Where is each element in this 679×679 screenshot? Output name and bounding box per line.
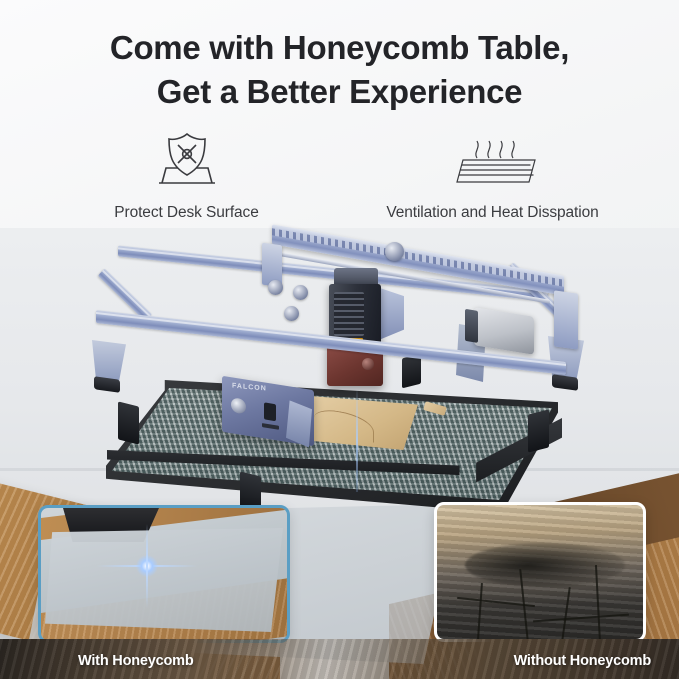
rubber-foot-left — [94, 376, 120, 393]
connector-port[interactable] — [264, 402, 276, 421]
sd-card-slot[interactable] — [262, 423, 279, 430]
focus-knob — [362, 358, 374, 370]
stepper-motor-cap — [465, 309, 478, 343]
heat-grid-icon — [441, 128, 545, 190]
burn-crack — [561, 587, 570, 641]
burn-crack — [477, 583, 483, 639]
comparison-panel-with-honeycomb — [38, 505, 290, 643]
control-box-bracket — [286, 400, 312, 448]
gantry-end-block-right — [554, 290, 578, 349]
laser-engraver-machine: FALCON — [0, 228, 679, 488]
laser-head-module — [326, 268, 388, 388]
feature-label: Protect Desk Surface — [114, 204, 258, 222]
page-title: Come with Honeycomb Table, Get a Better … — [0, 26, 679, 113]
feature-ventilation-heat-dissipation: Ventilation and Heat Disspation — [359, 128, 627, 222]
caption-with-honeycomb: With Honeycomb — [78, 653, 194, 669]
burn-scorch-mark — [465, 543, 625, 587]
idler-pulley — [284, 306, 299, 321]
idler-pulley — [293, 285, 308, 300]
laser-flare-core — [136, 555, 158, 577]
control-box: FALCON — [222, 376, 314, 447]
shield-desk-icon — [148, 128, 226, 190]
feature-protect-desk-surface: Protect Desk Surface — [53, 128, 321, 222]
protected-desk-surface — [45, 528, 283, 632]
power-dial[interactable] — [231, 397, 246, 414]
rubber-foot-right — [552, 374, 578, 391]
headline-line-2: Get a Better Experience — [0, 70, 679, 114]
promo-page: Come with Honeycomb Table, Get a Better … — [0, 0, 679, 679]
headline-line-1: Come with Honeycomb Table, — [0, 26, 679, 70]
caption-without-honeycomb: Without Honeycomb — [514, 653, 651, 669]
laser-heatsink-fins — [334, 292, 364, 336]
brand-label: FALCON — [232, 383, 267, 393]
comparison-panel-without-honeycomb — [434, 502, 646, 642]
burn-crack — [533, 614, 629, 623]
idler-pulley — [268, 280, 283, 295]
idler-pulley — [385, 242, 404, 261]
laser-beam — [356, 388, 358, 492]
feature-label: Ventilation and Heat Disspation — [386, 204, 598, 222]
laser-flare-icon — [145, 564, 149, 568]
feature-list: Protect Desk Surface Ventilation and Hea… — [0, 128, 679, 222]
